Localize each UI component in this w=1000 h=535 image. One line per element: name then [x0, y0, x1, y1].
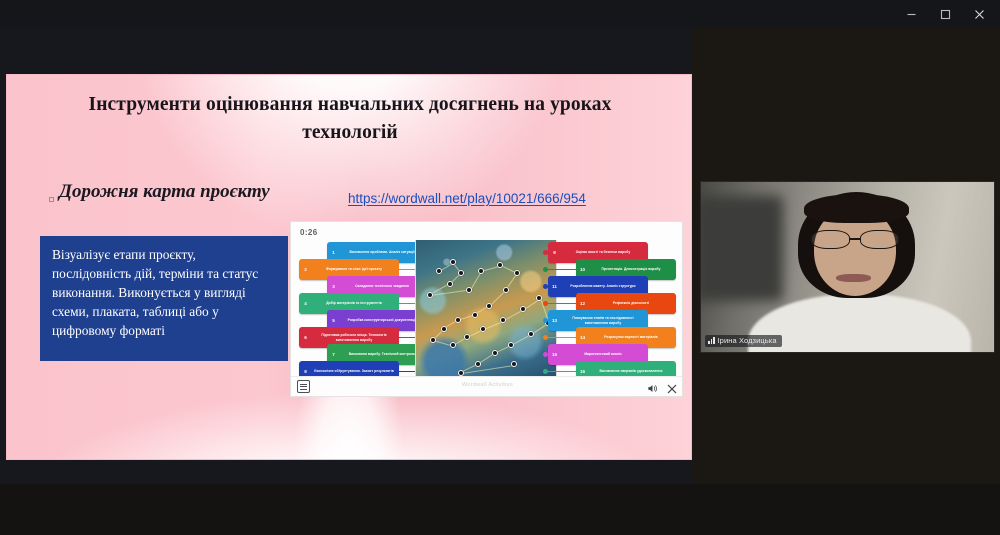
map-node-marker[interactable] — [503, 287, 509, 293]
map-node-marker[interactable] — [511, 361, 517, 367]
close-icon[interactable] — [962, 0, 996, 28]
map-node-marker[interactable] — [486, 303, 492, 309]
participant-name: Ірина Ходзицька — [718, 336, 777, 345]
connector-knob — [543, 301, 548, 306]
connector-line — [544, 269, 576, 270]
card-number: 1 — [329, 250, 338, 255]
card-label: Визначення напрямів удосконалення — [589, 369, 673, 373]
wordwall-link[interactable]: https://wordwall.net/play/10021/666/954 — [348, 191, 586, 206]
card-number: 11 — [550, 284, 559, 289]
card-label: Виконання виробу. Технічний контроль — [340, 352, 424, 356]
card-number: 12 — [578, 301, 587, 306]
game-map-image[interactable] — [415, 240, 557, 378]
map-node-marker[interactable] — [450, 259, 456, 265]
card-label: Розроблення макету. Аналіз структури — [561, 284, 645, 288]
game-toolbar: Wordwall Activities — [291, 376, 683, 396]
connector-knob — [543, 335, 548, 340]
minimize-icon[interactable] — [894, 0, 928, 28]
map-node-marker[interactable] — [427, 292, 433, 298]
participant-mouth — [836, 274, 871, 283]
map-node-marker[interactable] — [500, 317, 506, 323]
map-node-marker[interactable] — [466, 287, 472, 293]
map-node-marker[interactable] — [430, 337, 436, 343]
bullet-marker-icon — [49, 197, 54, 202]
participant-name-badge: Ірина Ходзицька — [705, 335, 782, 347]
card-label: Добір матеріалів та інструментів — [312, 301, 396, 305]
card-label: Економічне обґрунтування. Захист результ… — [312, 369, 396, 373]
card-number: 7 — [329, 352, 338, 357]
map-node-marker[interactable] — [472, 312, 478, 318]
connector-line — [544, 371, 576, 372]
participant-glasses — [811, 230, 899, 249]
card-label: Визначення проблеми. Аналіз ситуації — [340, 250, 424, 254]
participant-video-tile[interactable]: Ірина Ходзицька — [700, 181, 995, 353]
map-node-marker[interactable] — [450, 342, 456, 348]
game-timer: 0:26 — [300, 228, 318, 237]
video-background-object — [700, 196, 783, 301]
connector-line — [544, 337, 576, 338]
slide-subheading: Дорожня карта проєкту — [59, 181, 270, 203]
card-number: 5 — [329, 318, 338, 323]
map-node-marker[interactable] — [458, 370, 464, 376]
card-label: Планування етапів та послідовності вигот… — [561, 316, 645, 324]
connector-line — [544, 303, 576, 304]
card-number: 16 — [578, 369, 587, 374]
card-number: 13 — [550, 318, 559, 323]
stage-bottom-filler — [0, 484, 1000, 535]
right-card-column: 9Оцінка якості та безпеки виробу10Презен… — [548, 240, 676, 378]
card-label: Розробка конструкторської документації — [340, 318, 424, 322]
map-node-marker[interactable] — [478, 268, 484, 274]
restore-icon[interactable] — [928, 0, 962, 28]
map-path-segment — [462, 364, 516, 373]
card-label: Підготовка робочого місця. Технологія ви… — [312, 333, 396, 341]
map-node-marker[interactable] — [480, 326, 486, 332]
card-label: Маркетинговий аналіз — [561, 352, 645, 356]
map-node-marker[interactable] — [520, 306, 526, 312]
map-node-marker[interactable] — [475, 361, 481, 367]
window-titlebar — [0, 0, 1000, 28]
card-number: 10 — [578, 267, 587, 272]
card-label: Презентація. Демонстрація виробу — [589, 267, 673, 271]
map-node-marker[interactable] — [441, 326, 447, 332]
game-board: 1Визначення проблеми. Аналіз ситуації2Фо… — [291, 240, 683, 378]
close-embed-icon[interactable] — [667, 381, 677, 397]
map-node-marker[interactable] — [447, 281, 453, 287]
card-label: Складання технічного завдання — [340, 284, 424, 288]
description-callout-text: Візуалізує етапи проєкту, послідовність … — [52, 245, 278, 340]
map-node-marker[interactable] — [458, 270, 464, 276]
card-number: 8 — [301, 369, 310, 374]
card-number: 15 — [550, 352, 559, 357]
map-node-marker[interactable] — [436, 268, 442, 274]
card-number: 6 — [301, 335, 310, 340]
presentation-slide: Інструменти оцінювання навчальних досягн… — [6, 74, 692, 460]
card-label: Розрахунок вартості матеріалів — [589, 335, 673, 339]
map-node-marker[interactable] — [508, 342, 514, 348]
window-controls — [894, 0, 996, 28]
card-label: Оцінка якості та безпеки виробу — [561, 250, 645, 254]
game-credit: Wordwall Activities — [291, 382, 683, 388]
page-title: Інструменти оцінювання навчальних досягн… — [41, 91, 659, 146]
sound-icon[interactable] — [647, 381, 658, 397]
card-number: 2 — [301, 267, 310, 272]
map-node-marker[interactable] — [464, 334, 470, 340]
description-callout: Візуалізує етапи проєкту, послідовність … — [40, 236, 288, 361]
map-node-marker[interactable] — [455, 317, 461, 323]
meeting-window: Інструменти оцінювання навчальних досягн… — [0, 0, 1000, 535]
map-node-marker[interactable] — [528, 331, 534, 337]
card-number: 14 — [578, 335, 587, 340]
card-label: Рефлексія діяльності — [589, 301, 673, 305]
card-number: 3 — [329, 284, 338, 289]
wordwall-embed[interactable]: 0:26 1Визначення проблеми. Аналіз ситуац… — [290, 221, 683, 397]
map-node-marker[interactable] — [492, 350, 498, 356]
card-number: 4 — [301, 301, 310, 306]
map-node-marker[interactable] — [514, 270, 520, 276]
connector-knob — [543, 267, 548, 272]
participant-fringe — [804, 194, 909, 223]
connector-knob — [543, 369, 548, 374]
card-label: Формування та опис ідеї проєкту — [312, 267, 396, 271]
left-card-column: 1Визначення проблеми. Аналіз ситуації2Фо… — [299, 240, 427, 378]
signal-bars-icon — [708, 337, 715, 344]
card-number: 9 — [550, 250, 559, 255]
